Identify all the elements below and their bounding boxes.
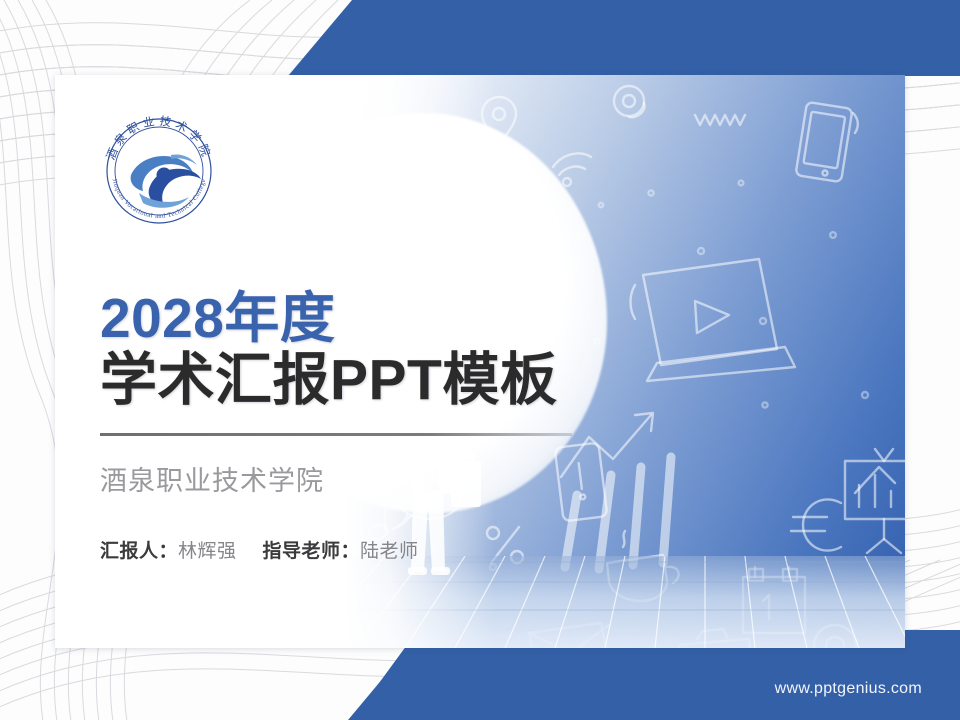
- presenter-name: 林辉强: [178, 541, 237, 562]
- envelope-icon: [381, 143, 439, 181]
- wifi-icon: [553, 153, 591, 186]
- college-logo: 酒泉职业技术学院 Jiuquan Vocational and Technica…: [101, 113, 217, 229]
- euro-sign-icon: [791, 499, 841, 550]
- checkmark-icon: [369, 621, 413, 648]
- title-year: 2028年度: [100, 290, 620, 346]
- title-main: 学术汇报PPT模板: [100, 349, 620, 413]
- website-url: www.pptgenius.com: [775, 680, 922, 698]
- laptop-play-icon: [631, 259, 796, 381]
- top-blue-band: [0, 0, 960, 80]
- tablet-icon: [795, 102, 857, 182]
- location-pin-icon: [482, 97, 516, 143]
- title-text-block: 2028年度 学术汇报PPT模板 酒泉职业技术学院 汇报人：林辉强指导老师：陆老…: [100, 290, 620, 563]
- school-name: 酒泉职业技术学院: [100, 459, 620, 498]
- presentation-slide: 酒泉职业技术学院 Jiuquan Vocational and Technica…: [0, 0, 960, 720]
- presenter-label: 汇报人：: [100, 541, 178, 562]
- advisor-name: 陆老师: [360, 541, 419, 562]
- advisor-label: 指导老师：: [263, 541, 361, 562]
- slide-card: 酒泉职业技术学院 Jiuquan Vocational and Technica…: [55, 75, 905, 648]
- presentation-board-icon: [845, 449, 905, 553]
- presenter-line: 汇报人：林辉强指导老师：陆老师: [100, 536, 620, 563]
- title-divider: [100, 433, 572, 436]
- perspective-floor: [345, 556, 905, 648]
- at-sign-icon: [614, 86, 645, 117]
- www-squiggle-icon: [695, 115, 745, 125]
